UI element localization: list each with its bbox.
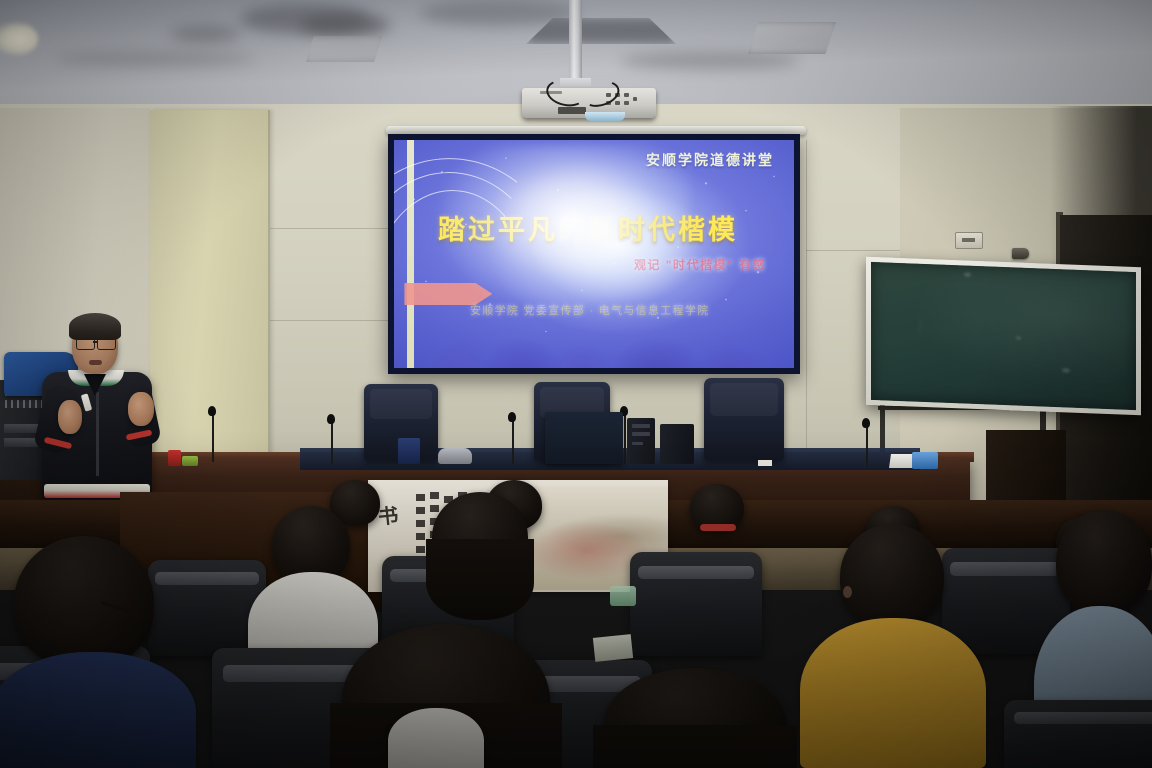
wall-seam	[806, 250, 906, 251]
slide-header-text: 安顺学院道德讲堂	[646, 150, 774, 170]
audience-head	[1056, 510, 1152, 614]
gooseneck-microphone	[506, 410, 518, 462]
audience-shoulders-foreground	[0, 652, 196, 768]
audience-seat[interactable]	[630, 552, 762, 656]
audience-seat-foreground[interactable]	[1004, 700, 1152, 768]
slide-title-part2: 时代楷模	[618, 215, 738, 245]
wall-switch-plate[interactable]	[955, 232, 983, 249]
desk-equipment-blue	[398, 438, 420, 464]
calligraphy-column	[416, 494, 425, 556]
wall-seam	[270, 320, 388, 321]
presenter-chair[interactable]	[704, 378, 784, 460]
slide-title-part1: 踏过平凡	[438, 215, 558, 245]
projection-screen-frame: 安顺学院道德讲堂 踏过平凡的新时代楷模 观记 "时代楷模" 有感 安顺学院 党委…	[388, 134, 800, 374]
presenter-hair	[69, 313, 121, 340]
phone-screen-glow	[610, 586, 636, 606]
glasses-icon	[97, 337, 116, 350]
wall-seam	[806, 140, 807, 470]
desk-item-green	[182, 456, 198, 466]
desk-item-red-cup	[168, 450, 181, 466]
computer-tower	[627, 418, 655, 464]
tissue-box	[912, 452, 938, 469]
seat-grey-band	[950, 562, 1063, 576]
gooseneck-microphone	[325, 412, 337, 462]
presenter-mouth	[89, 360, 102, 365]
presenter-jacket-zip	[96, 392, 99, 476]
slide-footer-text: 安顺学院 党委宣传部 · 电气与信息工程学院	[470, 302, 709, 318]
seat-grey-band	[1014, 712, 1152, 724]
gooseneck-microphone	[860, 418, 872, 464]
paper-slip	[758, 460, 772, 466]
audience-head-foreground	[14, 536, 154, 668]
presenter-left-hand	[58, 400, 82, 434]
lecture-hall-photo: 安顺学院道德讲堂 踏过平凡的新时代楷模 观记 "时代楷模" 有感 安顺学院 党委…	[0, 0, 1152, 768]
slide-title: 踏过平凡的新时代楷模	[438, 208, 774, 247]
presenter-right-hand	[128, 392, 154, 426]
wall-seam	[268, 110, 270, 470]
slide-title-washed: 的新	[558, 215, 618, 245]
audience-shoulders-white-shirt	[388, 708, 484, 768]
audience-head	[432, 492, 528, 582]
ceiling-tile	[748, 22, 836, 54]
audience-head-foreground	[604, 668, 786, 768]
seat-grey-band	[638, 566, 754, 580]
ceiling-tile	[306, 36, 382, 62]
slide-subtitle-text: 观记 "时代楷模" 有感	[634, 256, 766, 273]
desktop-monitor	[545, 412, 623, 464]
security-camera-icon	[1012, 248, 1029, 259]
desk-equipment-grey	[438, 448, 472, 464]
loudspeaker	[660, 424, 694, 464]
audience-ear	[843, 586, 852, 598]
audience-head	[840, 524, 944, 628]
projection-screen: 安顺学院道德讲堂 踏过平凡的新时代楷模 观记 "时代楷模" 有感 安顺学院 党委…	[394, 140, 794, 368]
seat-back	[1004, 700, 1152, 768]
gooseneck-microphone	[206, 404, 218, 460]
glasses-icon	[76, 337, 95, 350]
glasses-bridge	[93, 341, 97, 343]
projector-lens	[585, 112, 625, 121]
wall-seam	[270, 228, 390, 229]
audience-shoulders-yellow-shirt	[800, 618, 986, 768]
blackboard	[866, 257, 1141, 416]
notebook-paper	[593, 634, 633, 662]
audience-hairband	[700, 524, 736, 531]
seat-grey-band	[155, 572, 259, 584]
blackboard-surface	[871, 262, 1136, 410]
